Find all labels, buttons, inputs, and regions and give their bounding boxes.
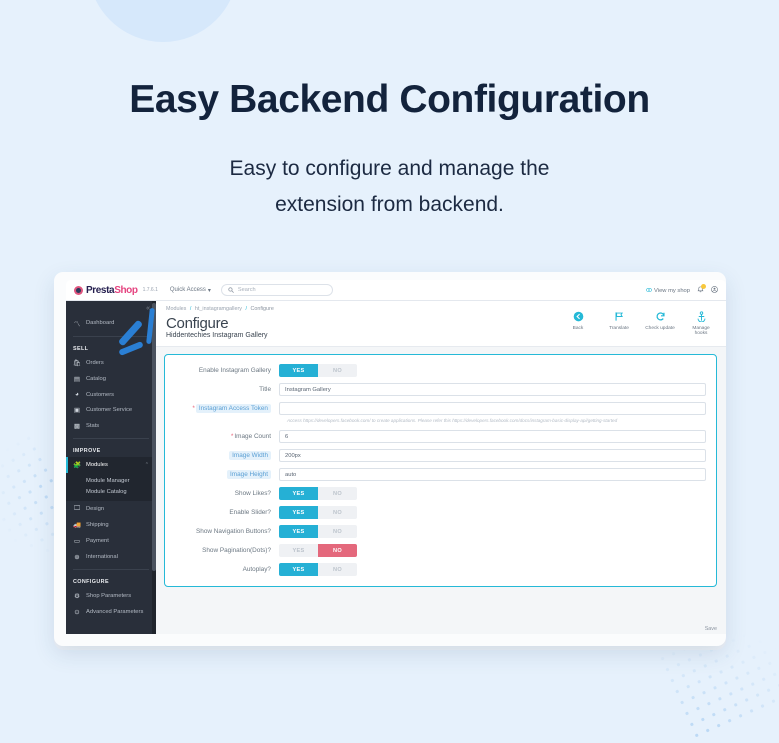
hero-subtitle-line2: extension from backend. [275, 193, 504, 216]
input-value: Instagram Gallery [285, 387, 331, 393]
sidebar-item-customer-service[interactable]: ▣ Customer Service [66, 402, 156, 418]
field-label: Show Navigation Buttons? [175, 528, 279, 535]
field-enable-slider: Enable Slider? YES NO [175, 506, 706, 519]
version-label: 1.7.6.1 [143, 287, 158, 293]
admin-sidebar: « 〽 Dashboard SELL 🛍 Orders ▤ Catalog ◕ [66, 301, 156, 634]
toolbar-label: Manage hooks [692, 326, 709, 336]
field-label: *Instagram Access Token [175, 405, 279, 412]
sidebar-item-label: Dashboard [86, 320, 114, 326]
toggle-yes[interactable]: YES [279, 506, 318, 519]
input-value: auto [285, 472, 296, 478]
search-input[interactable]: Search [221, 284, 333, 296]
notifications-button[interactable] [697, 286, 704, 295]
breadcrumb-separator: / [190, 306, 192, 312]
field-title: Title Instagram Gallery [175, 383, 706, 396]
configuration-form: Enable Instagram Gallery YES NO Title In… [164, 354, 717, 587]
sidebar-item-label: Stats [86, 423, 99, 429]
prestashop-logo-icon [74, 286, 83, 295]
configure-subtitle: Hiddentechies Instagram Gallery [166, 332, 274, 339]
search-placeholder: Search [238, 287, 256, 293]
admin-screenshot: PrestaShop 1.7.6.1 Quick Access ▾ Search [66, 280, 726, 634]
account-icon [711, 286, 718, 293]
configure-title: Configure [166, 316, 274, 331]
sidebar-item-advanced-parameters[interactable]: ⊙ Advanced Parameters [66, 604, 156, 620]
field-show-likes: Show Likes? YES NO [175, 487, 706, 500]
sidebar-item-label: Orders [86, 360, 104, 366]
sidebar-divider [73, 336, 149, 337]
payment-icon: ▭ [73, 537, 81, 545]
search-icon [228, 287, 234, 293]
field-label: Enable Slider? [175, 509, 279, 516]
anchor-icon [686, 311, 716, 326]
sidebar-item-label: Customers [86, 392, 114, 398]
toolbar-translate-button[interactable]: Translate [604, 311, 634, 336]
stats-icon: ▩ [73, 422, 81, 430]
sidebar-item-label: Customer Service [86, 407, 132, 413]
dashboard-icon: 〽 [73, 318, 81, 328]
sidebar-item-shipping[interactable]: 🚚 Shipping [66, 517, 156, 533]
toggle-autoplay[interactable]: YES NO [279, 563, 357, 576]
orders-icon: 🛍 [73, 359, 81, 367]
field-label: Title [175, 386, 279, 393]
international-icon: ⊕ [73, 553, 81, 561]
sidebar-item-modules[interactable]: 🧩 Modules ⌃ [66, 457, 156, 473]
input-value: 200px [285, 453, 301, 459]
view-my-shop-link[interactable]: View my shop [646, 287, 690, 294]
field-show-navigation-buttons: Show Navigation Buttons? YES NO [175, 525, 706, 538]
sidebar-item-label: Modules [86, 462, 108, 468]
toggle-no[interactable]: NO [318, 525, 357, 538]
quick-access-label: Quick Access [170, 287, 206, 293]
sidebar-item-orders[interactable]: 🛍 Orders [66, 355, 156, 371]
toggle-yes[interactable]: YES [279, 487, 318, 500]
toggle-show-likes[interactable]: YES NO [279, 487, 357, 500]
sidebar-item-label: Shipping [86, 522, 109, 528]
sidebar-section-configure: CONFIGURE [66, 574, 156, 588]
sidebar-item-dashboard[interactable]: 〽 Dashboard [66, 314, 156, 332]
view-my-shop-label: View my shop [654, 288, 690, 294]
hero-subtitle: Easy to configure and manage the extensi… [0, 151, 779, 223]
sidebar-submenu-modules: Module Manager Module Catalog [66, 473, 156, 501]
hero-section: Easy Backend Configuration Easy to confi… [0, 0, 779, 223]
page-title: Easy Backend Configuration [0, 78, 779, 122]
instagram-access-token-input[interactable] [279, 402, 706, 415]
field-show-pagination-dots: Show Pagination(Dots)? YES NO [175, 544, 706, 557]
page-toolbar: Back Translate Check updat [563, 306, 716, 336]
toolbar-label: Check update [645, 326, 675, 331]
sidebar-section-improve: IMPROVE [66, 443, 156, 457]
translate-flag-icon [604, 311, 634, 326]
field-image-height: Image Height auto [175, 468, 706, 481]
toggle-enable-instagram-gallery[interactable]: YES NO [279, 364, 357, 377]
sidebar-item-stats[interactable]: ▩ Stats [66, 418, 156, 434]
sidebar-item-international[interactable]: ⊕ International [66, 549, 156, 565]
toggle-show-navigation-buttons[interactable]: YES NO [279, 525, 357, 538]
sidebar-subitem-module-catalog[interactable]: Module Catalog [86, 486, 156, 497]
toggle-yes[interactable]: YES [279, 364, 318, 377]
shop-parameters-icon: ⚙ [73, 592, 81, 600]
sidebar-item-shop-parameters[interactable]: ⚙ Shop Parameters [66, 588, 156, 604]
toggle-no[interactable]: NO [318, 364, 357, 377]
toggle-no[interactable]: NO [318, 506, 357, 519]
sidebar-subitem-module-manager[interactable]: Module Manager [86, 475, 156, 486]
toggle-no[interactable]: NO [318, 487, 357, 500]
image-width-input[interactable]: 200px [279, 449, 706, 462]
image-count-input[interactable]: 6 [279, 430, 706, 443]
sidebar-item-label: Shop Parameters [86, 593, 131, 599]
admin-main-content: Modules / ht_instagramgallery / Configur… [156, 301, 726, 634]
eye-icon [646, 287, 652, 293]
advanced-parameters-icon: ⊙ [73, 608, 81, 616]
prestashop-logo[interactable]: PrestaShop 1.7.6.1 [74, 285, 158, 296]
design-icon: 🖵 [73, 505, 81, 513]
toggle-no[interactable]: NO [318, 563, 357, 576]
toggle-yes[interactable]: YES [279, 525, 318, 538]
field-autoplay: Autoplay? YES NO [175, 563, 706, 576]
chevron-up-icon: ⌃ [145, 462, 149, 468]
input-value: 6 [285, 434, 288, 440]
refresh-icon [645, 311, 675, 326]
toggle-yes[interactable]: YES [279, 544, 318, 557]
save-button[interactable]: Save [705, 626, 717, 632]
toolbar-back-button[interactable]: Back [563, 311, 593, 336]
toolbar-label: Back [573, 326, 584, 331]
sidebar-item-label: Advanced Parameters [86, 609, 143, 615]
breadcrumb-separator: / [245, 306, 247, 312]
chevron-down-icon: ▾ [208, 287, 211, 294]
field-image-width: Image Width 200px [175, 449, 706, 462]
account-button[interactable] [711, 286, 718, 295]
access-token-help-text: Access https://developers.facebook.com/ … [279, 418, 706, 423]
breadcrumb-module-name[interactable]: ht_instagramgallery [195, 306, 242, 312]
sidebar-item-label: Catalog [86, 376, 106, 382]
catalog-icon: ▤ [73, 375, 81, 383]
field-instagram-access-token: *Instagram Access Token [175, 402, 706, 415]
customers-icon: ◕ [73, 391, 81, 398]
sidebar-item-catalog[interactable]: ▤ Catalog [66, 371, 156, 387]
toolbar-label: Translate [609, 326, 629, 331]
field-image-count: *Image Count 6 [175, 430, 706, 443]
page-header: Modules / ht_instagramgallery / Configur… [156, 301, 726, 347]
back-arrow-icon [563, 311, 593, 326]
toggle-yes[interactable]: YES [279, 563, 318, 576]
logo-text-presta: Presta [86, 285, 114, 296]
quick-access-menu[interactable]: Quick Access ▾ [170, 287, 211, 294]
sidebar-divider [73, 569, 149, 570]
title-input[interactable]: Instagram Gallery [279, 383, 706, 396]
field-label: Autoplay? [175, 566, 279, 573]
notification-badge [701, 284, 706, 289]
toggle-enable-slider[interactable]: YES NO [279, 506, 357, 519]
breadcrumb: Modules / ht_instagramgallery / Configur… [166, 306, 274, 312]
field-label: Image Width [175, 452, 279, 459]
breadcrumb-modules[interactable]: Modules [166, 306, 186, 312]
hero-subtitle-line1: Easy to configure and manage the [230, 157, 550, 180]
sidebar-item-label: Payment [86, 538, 109, 544]
sidebar-item-payment[interactable]: ▭ Payment [66, 533, 156, 549]
toolbar-manage-hooks-button[interactable]: Manage hooks [686, 311, 716, 336]
sidebar-divider [73, 438, 149, 439]
sidebar-item-label: International [86, 554, 118, 560]
field-label: *Image Count [175, 433, 279, 440]
sidebar-collapse-button[interactable]: « [66, 301, 156, 314]
field-label: Enable Instagram Gallery [175, 367, 279, 374]
field-label: Image Height [175, 471, 279, 478]
logo-text-shop: Shop [114, 285, 137, 296]
toolbar-check-update-button[interactable]: Check update [645, 311, 675, 336]
modules-icon: 🧩 [73, 461, 81, 469]
admin-topbar: PrestaShop 1.7.6.1 Quick Access ▾ Search [66, 280, 726, 301]
sidebar-item-label: Design [86, 506, 104, 512]
sidebar-item-design[interactable]: 🖵 Design [66, 501, 156, 517]
field-enable-instagram-gallery: Enable Instagram Gallery YES NO [175, 364, 706, 377]
toggle-show-pagination-dots[interactable]: YES NO [279, 544, 357, 557]
sidebar-item-customers[interactable]: ◕ Customers [66, 387, 156, 402]
breadcrumb-current: Configure [250, 306, 273, 312]
field-label: Show Likes? [175, 490, 279, 497]
required-marker: * [192, 405, 195, 412]
toggle-no[interactable]: NO [318, 544, 357, 557]
device-mockup: PrestaShop 1.7.6.1 Quick Access ▾ Search [54, 272, 726, 646]
field-label: Show Pagination(Dots)? [175, 547, 279, 554]
customer-service-icon: ▣ [73, 406, 81, 414]
shipping-icon: 🚚 [73, 521, 81, 529]
image-height-input[interactable]: auto [279, 468, 706, 481]
